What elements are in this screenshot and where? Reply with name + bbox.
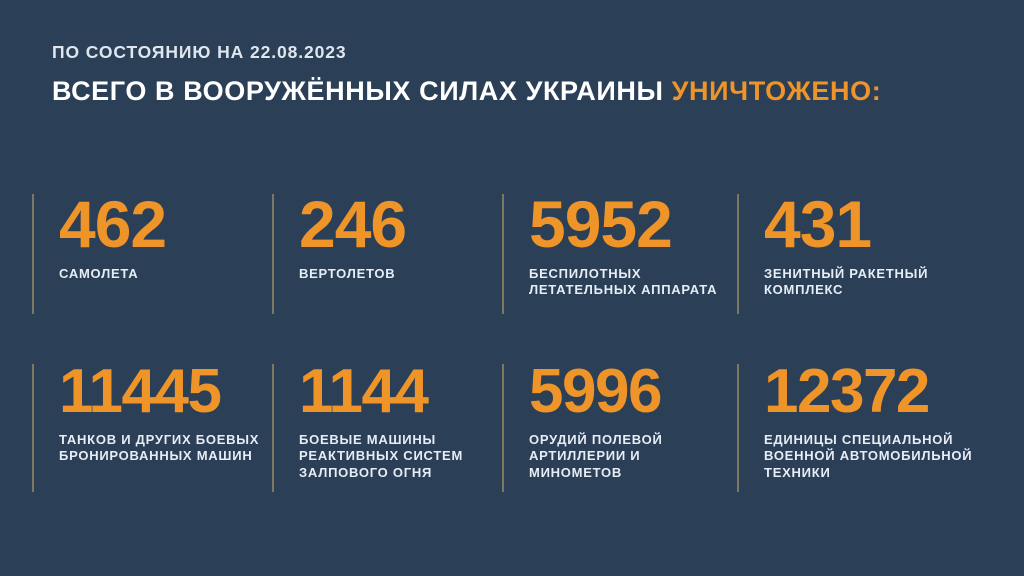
- stat-block-air-defense: 431 ЗЕНИТНЫЙ РАКЕТНЫЙ КОМПЛЕКС: [737, 192, 987, 316]
- divider-line: [272, 364, 274, 492]
- stat-block-drones: 5952 БЕСПИЛОТНЫХ ЛЕТАТЕЛЬНЫХ АППАРАТА: [502, 192, 737, 316]
- stat-label: ЗЕНИТНЫЙ РАКЕТНЫЙ КОМПЛЕКС: [764, 266, 987, 299]
- stat-label: ТАНКОВ И ДРУГИХ БОЕВЫХ БРОНИРОВАННЫХ МАШ…: [59, 432, 272, 465]
- divider-line: [737, 364, 739, 492]
- stat-value: 5952: [529, 192, 737, 257]
- divider-line: [272, 194, 274, 314]
- divider-line: [32, 194, 34, 314]
- divider-line: [502, 364, 504, 492]
- stat-block-mlrs: 1144 БОЕВЫЕ МАШИНЫ РЕАКТИВНЫХ СИСТЕМ ЗАЛ…: [272, 362, 502, 494]
- stat-label: БОЕВЫЕ МАШИНЫ РЕАКТИВНЫХ СИСТЕМ ЗАЛПОВОГ…: [299, 432, 502, 482]
- stat-row-2: 11445 ТАНКОВ И ДРУГИХ БОЕВЫХ БРОНИРОВАНН…: [32, 362, 996, 494]
- divider-line: [32, 364, 34, 492]
- stat-value: 11445: [59, 362, 272, 423]
- infographic-poster: ПО СОСТОЯНИЮ НА 22.08.2023 ВСЕГО В ВООРУ…: [0, 0, 1024, 576]
- stat-value: 462: [59, 192, 272, 257]
- stat-block-helicopters: 246 ВЕРТОЛЕТОВ: [272, 192, 502, 316]
- stat-value: 431: [764, 192, 987, 257]
- stat-block-tanks: 11445 ТАНКОВ И ДРУГИХ БОЕВЫХ БРОНИРОВАНН…: [32, 362, 272, 494]
- stat-value: 5996: [529, 362, 737, 423]
- stat-label: САМОЛЕТА: [59, 266, 272, 283]
- stat-grid: 462 САМОЛЕТА 246 ВЕРТОЛЕТОВ 5952 БЕСПИЛО…: [0, 0, 1024, 576]
- stat-block-artillery: 5996 ОРУДИЙ ПОЛЕВОЙ АРТИЛЛЕРИИ И МИНОМЕТ…: [502, 362, 737, 494]
- divider-line: [502, 194, 504, 314]
- stat-row-1: 462 САМОЛЕТА 246 ВЕРТОЛЕТОВ 5952 БЕСПИЛО…: [32, 192, 996, 316]
- stat-block-aircraft: 462 САМОЛЕТА: [32, 192, 272, 316]
- stat-value: 1144: [299, 362, 502, 423]
- stat-label: БЕСПИЛОТНЫХ ЛЕТАТЕЛЬНЫХ АППАРАТА: [529, 266, 737, 299]
- divider-line: [737, 194, 739, 314]
- stat-value: 246: [299, 192, 502, 257]
- stat-label: ЕДИНИЦЫ СПЕЦИАЛЬНОЙ ВОЕННОЙ АВТОМОБИЛЬНО…: [764, 432, 987, 482]
- stat-block-military-vehicles: 12372 ЕДИНИЦЫ СПЕЦИАЛЬНОЙ ВОЕННОЙ АВТОМО…: [737, 362, 987, 494]
- stat-value: 12372: [764, 362, 987, 423]
- stat-label: ВЕРТОЛЕТОВ: [299, 266, 502, 283]
- stat-label: ОРУДИЙ ПОЛЕВОЙ АРТИЛЛЕРИИ И МИНОМЕТОВ: [529, 432, 737, 482]
